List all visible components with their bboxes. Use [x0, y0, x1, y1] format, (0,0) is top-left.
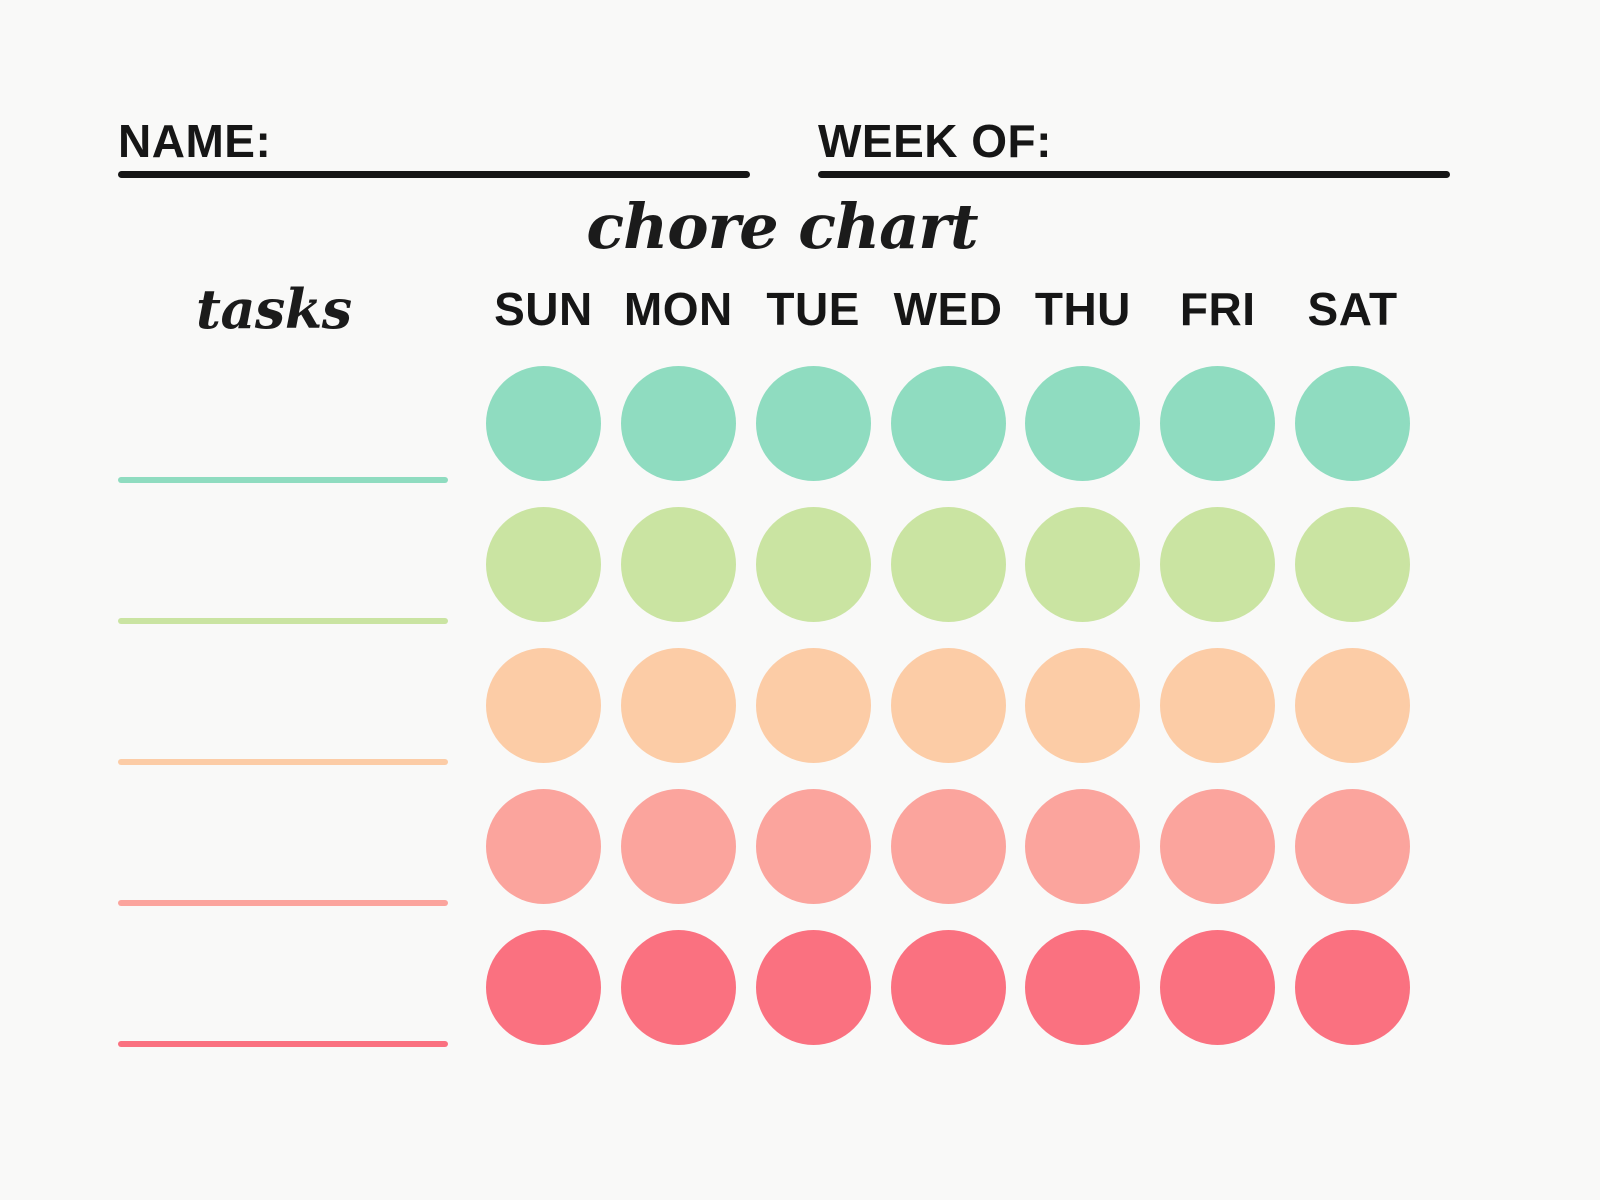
day-header-row: SUN MON TUE WED THU FRI SAT	[476, 286, 1420, 346]
checkbox-circle-icon[interactable]	[891, 507, 1006, 622]
task-input-rule[interactable]	[118, 759, 448, 765]
task-line-row	[118, 648, 448, 763]
task-input-rule[interactable]	[118, 900, 448, 906]
checkbox-circle-icon[interactable]	[1160, 507, 1275, 622]
chore-cell-wed[interactable]	[881, 930, 1016, 1045]
chore-cell-sat[interactable]	[1285, 789, 1420, 904]
name-field-input-rule[interactable]	[118, 171, 750, 178]
task-lines-column	[118, 366, 448, 1046]
checkbox-circle-icon[interactable]	[621, 366, 736, 481]
checkbox-circle-icon[interactable]	[1295, 648, 1410, 763]
chore-cell-fri[interactable]	[1150, 507, 1285, 622]
chore-cell-fri[interactable]	[1150, 648, 1285, 763]
chore-cell-thu[interactable]	[1015, 507, 1150, 622]
checkbox-circle-icon[interactable]	[1160, 789, 1275, 904]
chore-cell-thu[interactable]	[1015, 930, 1150, 1045]
checkbox-circle-icon[interactable]	[756, 930, 871, 1045]
chore-cell-thu[interactable]	[1015, 648, 1150, 763]
chore-row	[476, 507, 1420, 622]
chore-cell-thu[interactable]	[1015, 366, 1150, 481]
checkbox-circle-icon[interactable]	[1295, 930, 1410, 1045]
chore-cell-sun[interactable]	[476, 930, 611, 1045]
checkbox-circle-icon[interactable]	[621, 648, 736, 763]
chore-cell-sat[interactable]	[1285, 507, 1420, 622]
checkbox-circle-icon[interactable]	[756, 648, 871, 763]
chore-cell-sun[interactable]	[476, 789, 611, 904]
checkbox-circle-icon[interactable]	[1025, 507, 1140, 622]
name-field-group: NAME:	[118, 100, 750, 178]
tasks-column-heading: tasks	[196, 282, 352, 336]
chore-cell-mon[interactable]	[611, 648, 746, 763]
day-header-fri: FRI	[1150, 286, 1285, 346]
checkbox-circle-icon[interactable]	[756, 366, 871, 481]
chore-cell-sat[interactable]	[1285, 366, 1420, 481]
chore-cell-tue[interactable]	[746, 648, 881, 763]
checkbox-circle-icon[interactable]	[1025, 366, 1140, 481]
task-input-rule[interactable]	[118, 477, 448, 483]
chore-cell-wed[interactable]	[881, 507, 1016, 622]
chore-cell-fri[interactable]	[1150, 366, 1285, 481]
task-line-row	[118, 930, 448, 1045]
checkbox-circle-icon[interactable]	[486, 366, 601, 481]
chore-cell-tue[interactable]	[746, 930, 881, 1045]
chore-row	[476, 789, 1420, 904]
day-header-thu: THU	[1015, 286, 1150, 346]
checkbox-circle-icon[interactable]	[621, 930, 736, 1045]
checkbox-circle-icon[interactable]	[1295, 789, 1410, 904]
week-of-field-label: WEEK OF:	[818, 118, 1052, 164]
day-header-sat: SAT	[1285, 286, 1420, 346]
checkbox-circle-icon[interactable]	[1160, 930, 1275, 1045]
task-line-row	[118, 789, 448, 904]
page-title: chore chart	[0, 196, 1582, 258]
checkbox-circle-icon[interactable]	[621, 507, 736, 622]
checkbox-circle-icon[interactable]	[756, 789, 871, 904]
chore-cell-fri[interactable]	[1150, 789, 1285, 904]
chore-cell-sat[interactable]	[1285, 648, 1420, 763]
checkbox-circle-icon[interactable]	[756, 507, 871, 622]
chore-cell-wed[interactable]	[881, 648, 1016, 763]
chore-cell-mon[interactable]	[611, 507, 746, 622]
chore-cell-sat[interactable]	[1285, 930, 1420, 1045]
checkbox-circle-icon[interactable]	[891, 648, 1006, 763]
name-field-label: NAME:	[118, 118, 271, 164]
checkbox-circle-icon[interactable]	[486, 930, 601, 1045]
week-of-field-input-rule[interactable]	[818, 171, 1450, 178]
checkbox-circle-icon[interactable]	[621, 789, 736, 904]
chore-cell-wed[interactable]	[881, 789, 1016, 904]
day-header-tue: TUE	[746, 286, 881, 346]
chore-chart-sheet: NAME: WEEK OF: chore chart tasks SUN MON…	[0, 0, 1600, 1200]
chore-cell-sun[interactable]	[476, 366, 611, 481]
chore-cell-tue[interactable]	[746, 366, 881, 481]
chore-cell-sun[interactable]	[476, 507, 611, 622]
task-line-row	[118, 366, 448, 481]
checkbox-circle-icon[interactable]	[891, 789, 1006, 904]
chore-cell-mon[interactable]	[611, 930, 746, 1045]
chore-row	[476, 930, 1420, 1045]
task-input-rule[interactable]	[118, 1041, 448, 1047]
task-input-rule[interactable]	[118, 618, 448, 624]
checkbox-circle-icon[interactable]	[1295, 507, 1410, 622]
day-header-wed: WED	[881, 286, 1016, 346]
day-header-mon: MON	[611, 286, 746, 346]
chore-cell-tue[interactable]	[746, 507, 881, 622]
chore-row	[476, 366, 1420, 481]
checkbox-circle-icon[interactable]	[891, 366, 1006, 481]
checkbox-circle-icon[interactable]	[486, 507, 601, 622]
chore-row	[476, 648, 1420, 763]
chore-cell-thu[interactable]	[1015, 789, 1150, 904]
checkbox-circle-icon[interactable]	[1295, 366, 1410, 481]
checkbox-circle-icon[interactable]	[486, 789, 601, 904]
checkbox-circle-icon[interactable]	[1160, 366, 1275, 481]
checkbox-circle-icon[interactable]	[1025, 789, 1140, 904]
chore-checkbox-grid	[476, 366, 1420, 1046]
checkbox-circle-icon[interactable]	[1160, 648, 1275, 763]
chore-cell-sun[interactable]	[476, 648, 611, 763]
checkbox-circle-icon[interactable]	[1025, 930, 1140, 1045]
chore-cell-wed[interactable]	[881, 366, 1016, 481]
chore-cell-mon[interactable]	[611, 366, 746, 481]
checkbox-circle-icon[interactable]	[1025, 648, 1140, 763]
chore-cell-mon[interactable]	[611, 789, 746, 904]
task-line-row	[118, 507, 448, 622]
day-header-sun: SUN	[476, 286, 611, 346]
checkbox-circle-icon[interactable]	[486, 648, 601, 763]
checkbox-circle-icon[interactable]	[891, 930, 1006, 1045]
week-of-field-group: WEEK OF:	[818, 100, 1450, 178]
chore-cell-tue[interactable]	[746, 789, 881, 904]
chore-cell-fri[interactable]	[1150, 930, 1285, 1045]
